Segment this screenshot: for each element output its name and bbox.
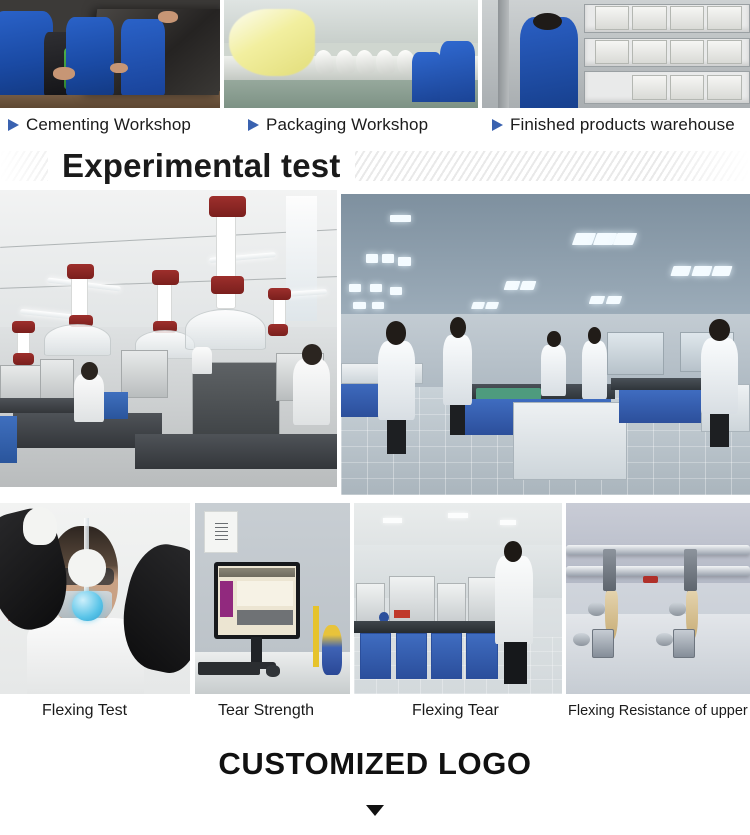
caption-flexing-resistance-of-upper: Flexing Resistance of upper [568,694,748,728]
triangle-right-icon [248,119,259,131]
lab-person [443,335,472,404]
caption-flexing-test: Flexing Test [42,694,127,728]
caption-flexing-tear: Flexing Tear [412,694,499,728]
caption-finished-products-warehouse: Finished products warehouse [492,108,735,142]
photo-flexing-resistance-of-upper [566,503,750,694]
photo-tear-strength [195,503,350,694]
lab-person [701,338,738,413]
triangle-down-icon [366,805,384,816]
caption-packaging-workshop: Packaging Workshop [248,108,428,142]
triangle-right-icon [8,119,19,131]
caption-tear-strength: Tear Strength [218,694,314,728]
lab-person [541,345,566,396]
photo-packaging-workshop [224,0,478,108]
workshop-caption-row: Cementing Workshop Packaging Workshop Fi… [0,108,750,142]
caption-label: Packaging Workshop [266,115,428,135]
experimental-test-title-band: Experimental test [0,143,750,189]
customized-logo-title: CUSTOMIZED LOGO [0,740,750,788]
photo-chemistry-lab [0,190,337,487]
page-title: Experimental test [48,143,355,189]
photo-testing-lab [341,194,750,495]
triangle-right-icon [492,119,503,131]
caption-label: Cementing Workshop [26,115,191,135]
workshop-photo-row [0,0,750,108]
lab-person [582,341,607,398]
lab-person [378,341,415,419]
photo-flexing-test [0,503,190,694]
caption-cementing-workshop: Cementing Workshop [8,108,191,142]
caption-label: Finished products warehouse [510,115,735,135]
photo-cementing-workshop [0,0,220,108]
product-detail-page: Cementing Workshop Packaging Workshop Fi… [0,0,750,835]
photo-flexing-tear [354,503,562,694]
photo-finished-products-warehouse [482,0,750,108]
test-caption-row: Flexing Test Tear Strength Flexing Tear … [0,694,750,728]
